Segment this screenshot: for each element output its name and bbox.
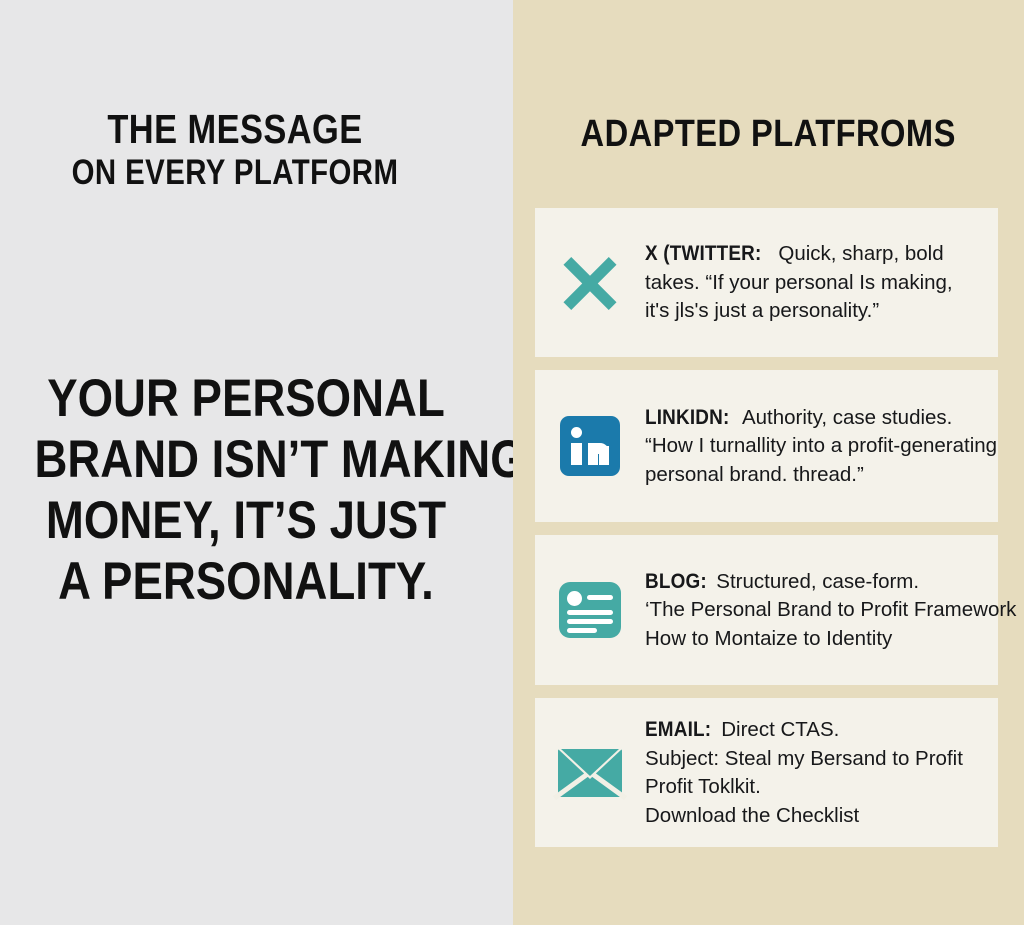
- card-line-3: Profit Toklkit.: [645, 773, 998, 802]
- left-message-panel: THE MESSAGE ON EVERY PLATFORM YOUR PERSO…: [0, 0, 513, 925]
- linkedin-icon: [560, 416, 620, 476]
- card-line-3: How to Montaize to Identity: [645, 625, 1016, 654]
- right-platforms-panel: ADAPTED PLATFROMS X (TWITTER:Quick, shar…: [513, 0, 1024, 925]
- card-line-2: ‘The Personal Brand to Profit Framework: [645, 596, 1016, 625]
- card-icon-slot: [549, 242, 631, 324]
- card-line-1: Quick, sharp, bold: [778, 242, 943, 265]
- headline-line-2: BRAND ISN’T MAKING: [34, 429, 457, 490]
- card-line-3: it's jls's just a personality.”: [645, 297, 998, 326]
- card-line-3: personal brand. thread.”: [645, 461, 998, 490]
- card-line-1: Structured, case-form.: [716, 570, 919, 593]
- email-envelope-icon: [558, 749, 622, 797]
- platform-card-text: X (TWITTER:Quick, sharp, bold takes. “If…: [631, 239, 998, 326]
- platform-card-text: BLOG:Structured, case-form. ‘The Persona…: [631, 567, 1016, 654]
- left-panel-heading: THE MESSAGE ON EVERY PLATFORM: [0, 106, 470, 194]
- blog-article-icon: [559, 582, 621, 638]
- card-line-4: Download the Checklist: [645, 802, 998, 831]
- card-first-line: BLOG:Structured, case-form.: [645, 567, 1016, 597]
- headline-line-4: A PERSONALITY.: [34, 551, 457, 612]
- headline-line-1: YOUR PERSONAL: [34, 368, 457, 429]
- platform-card-text: EMAIL:Direct CTAS. Subject: Steal my Ber…: [631, 715, 998, 830]
- platform-label: X (TWITTER:: [645, 239, 761, 268]
- card-icon-slot: [549, 405, 631, 487]
- right-panel-heading: ADAPTED PLATFROMS: [513, 112, 1024, 156]
- platform-label: EMAIL:: [645, 715, 711, 744]
- platform-label: LINKIDN:: [645, 403, 729, 432]
- card-line-1: Authority, case studies.: [742, 406, 952, 429]
- card-line-1: Direct CTAS.: [721, 718, 839, 741]
- platform-card-blog[interactable]: BLOG:Structured, case-form. ‘The Persona…: [535, 535, 998, 685]
- main-headline: YOUR PERSONAL BRAND ISN’T MAKING MONEY, …: [0, 368, 492, 612]
- card-icon-slot: [549, 569, 631, 651]
- poster-canvas: THE MESSAGE ON EVERY PLATFORM YOUR PERSO…: [0, 0, 1024, 925]
- right-heading-text: ADAPTED PLATFROMS: [581, 112, 956, 156]
- card-first-line: LINKIDN:Authority, case studies.: [645, 403, 998, 433]
- card-line-2: “How I turnallity into a profit-generati…: [645, 432, 998, 461]
- card-first-line: EMAIL:Direct CTAS.: [645, 715, 998, 745]
- left-heading-line-1: THE MESSAGE: [38, 106, 433, 152]
- platform-card-x-twitter[interactable]: X (TWITTER:Quick, sharp, bold takes. “If…: [535, 208, 998, 357]
- platform-card-linkedin[interactable]: LINKIDN:Authority, case studies. “How I …: [535, 370, 998, 522]
- left-heading-line-2: ON EVERY PLATFORM: [38, 152, 433, 194]
- card-first-line: X (TWITTER:Quick, sharp, bold: [645, 239, 998, 269]
- platform-label: BLOG:: [645, 567, 707, 596]
- card-line-2: Subject: Steal my Bersand to Profit: [645, 745, 998, 774]
- headline-line-3: MONEY, IT’S JUST: [34, 490, 457, 551]
- x-twitter-icon: [560, 253, 620, 313]
- platform-card-email[interactable]: EMAIL:Direct CTAS. Subject: Steal my Ber…: [535, 698, 998, 847]
- platform-card-text: LINKIDN:Authority, case studies. “How I …: [631, 403, 998, 490]
- card-icon-slot: [549, 732, 631, 814]
- card-line-2: takes. “If your personal Is making,: [645, 269, 998, 298]
